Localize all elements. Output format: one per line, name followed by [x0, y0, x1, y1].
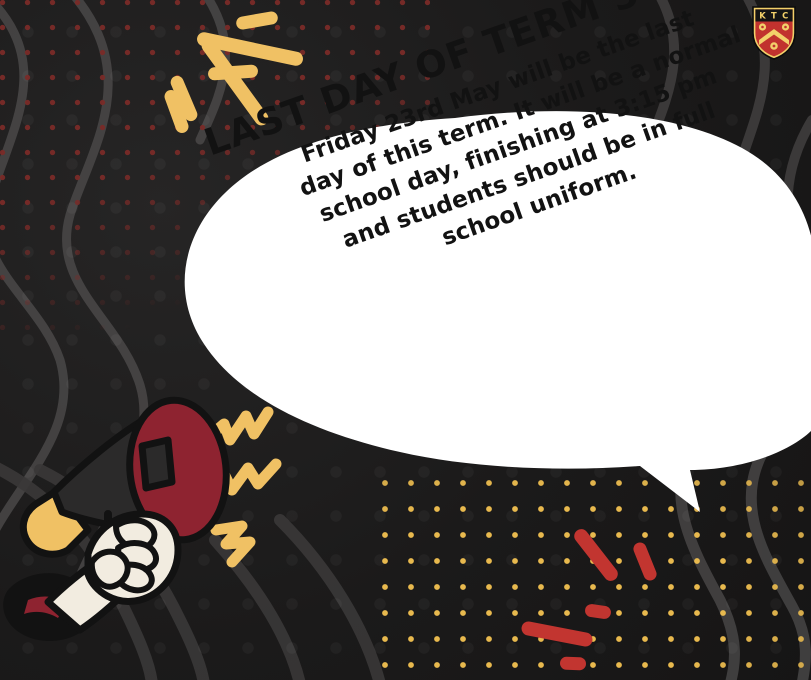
- poster-canvas: LAST DAY OF TERM 5 Friday 23rd May will …: [0, 0, 811, 680]
- crest-initial-t: T: [771, 11, 777, 21]
- megaphone-illustration: [0, 378, 322, 680]
- crest-rose-center: [761, 26, 764, 29]
- crest-initial-k: K: [759, 11, 766, 21]
- crest-rose-center: [784, 26, 787, 29]
- crest-rose-center: [773, 45, 776, 48]
- crest-initial-c: C: [782, 11, 788, 21]
- school-crest-logo: K T C: [751, 5, 797, 61]
- thumb: [92, 552, 128, 587]
- megaphone-inner-mouth: [142, 440, 172, 488]
